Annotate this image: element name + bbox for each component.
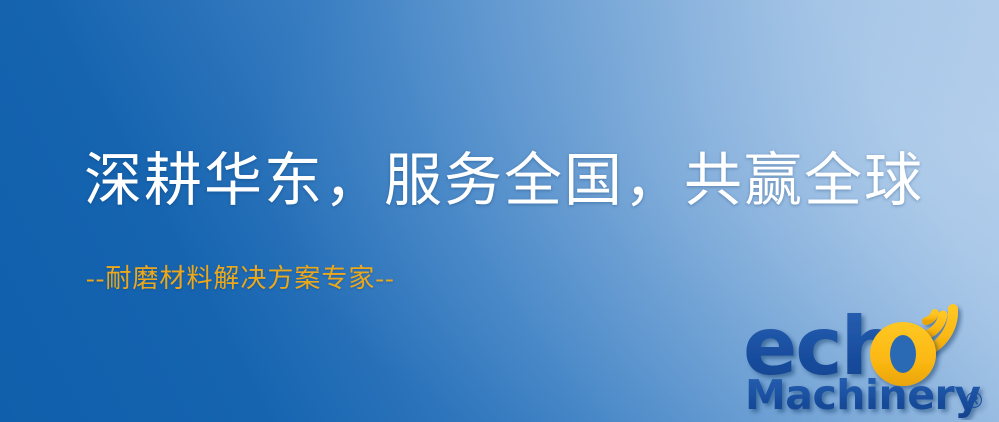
promo-banner: 深耕华东，服务全国，共赢全球 --耐磨材料解决方案专家--	[0, 0, 999, 422]
banner-subheadline: --耐磨材料解决方案专家--	[86, 266, 395, 292]
banner-headline: 深耕华东，服务全国，共赢全球	[84, 152, 924, 210]
logo-subword-machinery: Machinery	[745, 371, 980, 419]
logo-registered-mark: ®	[963, 389, 985, 414]
echo-machinery-logo[interactable]: ech Machinery ®	[741, 292, 993, 420]
